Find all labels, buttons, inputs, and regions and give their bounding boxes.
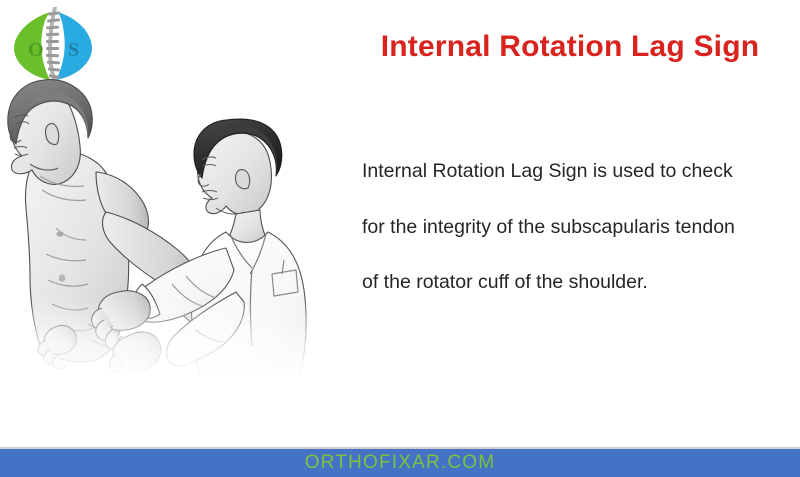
orthofixar-logo[interactable]: O S [6,4,98,86]
footer-website-label: ORTHOFIXAR.COM [305,452,496,474]
logo-spine-icon [46,7,60,84]
logo-letter-s: S [68,39,79,61]
footer-bar: ORTHOFIXAR.COM [0,449,800,477]
page-title: Internal Rotation Lag Sign [355,30,785,64]
description-line-3: of the rotator cuff of the shoulder. [362,273,792,293]
description-line-1: Internal Rotation Lag Sign is used to ch… [362,162,792,182]
slide-canvas: O S Internal Rotation Lag Sign [0,0,800,477]
description-text: Internal Rotation Lag Sign is used to ch… [362,162,792,293]
internal-rotation-lag-sign-illustration [0,78,352,378]
svg-text:S: S [68,39,79,61]
description-line-2: for the integrity of the subscapularis t… [362,218,792,238]
svg-text:O: O [28,39,44,61]
logo-letter-o: O [28,39,44,61]
